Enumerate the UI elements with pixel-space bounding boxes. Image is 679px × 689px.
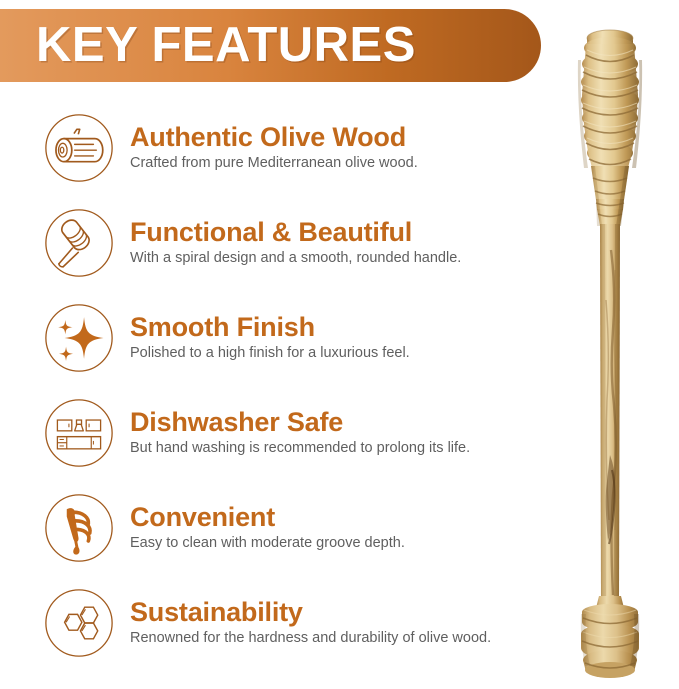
product-image	[540, 0, 679, 689]
olive-wood-honey-dipper-illustration	[540, 0, 679, 689]
feature-text: Dishwasher Safe But hand washing is reco…	[130, 408, 470, 457]
sparkle-icon	[43, 302, 115, 374]
page-title: KEY FEATURES	[36, 21, 416, 70]
feature-text: Authentic Olive Wood Crafted from pure M…	[130, 123, 418, 172]
feature-title: Convenient	[130, 503, 405, 532]
feature-subtitle: With a spiral design and a smooth, round…	[130, 250, 461, 267]
honeycomb-icon	[43, 587, 115, 659]
honey-dipper-outline-icon	[43, 207, 115, 279]
feature-subtitle: But hand washing is recommended to prolo…	[130, 440, 470, 457]
dipper-head	[578, 30, 642, 168]
honey-dripping-icon	[43, 492, 115, 564]
feature-subtitle: Renowned for the hardness and durability…	[130, 630, 491, 647]
feature-subtitle: Crafted from pure Mediterranean olive wo…	[130, 155, 418, 172]
feature-title: Dishwasher Safe	[130, 408, 470, 437]
feature-icon-wrap	[40, 112, 118, 184]
dipper-neck	[591, 166, 629, 226]
infographic-page: KEY FEATURES	[0, 0, 679, 689]
feature-icon-wrap	[40, 587, 118, 659]
feature-title: Functional & Beautiful	[130, 218, 461, 247]
dipper-handle	[600, 224, 620, 602]
feature-text: Smooth Finish Polished to a high finish …	[130, 313, 410, 362]
feature-text: Functional & Beautiful With a spiral des…	[130, 218, 461, 267]
feature-icon-wrap	[40, 207, 118, 279]
feature-title: Smooth Finish	[130, 313, 410, 342]
feature-row: Dishwasher Safe But hand washing is reco…	[0, 385, 545, 480]
feature-title: Authentic Olive Wood	[130, 123, 418, 152]
feature-icon-wrap	[40, 492, 118, 564]
feature-text: Convenient Easy to clean with moderate g…	[130, 503, 405, 552]
feature-row: Smooth Finish Polished to a high finish …	[0, 290, 545, 385]
kitchen-cabinets-icon	[43, 397, 115, 469]
feature-row: Functional & Beautiful With a spiral des…	[0, 195, 545, 290]
feature-row: Authentic Olive Wood Crafted from pure M…	[0, 100, 545, 195]
feature-subtitle: Easy to clean with moderate groove depth…	[130, 535, 405, 552]
key-features-banner: KEY FEATURES	[0, 9, 541, 82]
log-icon	[43, 112, 115, 184]
feature-list: Authentic Olive Wood Crafted from pure M…	[0, 100, 545, 670]
feature-title: Sustainability	[130, 598, 491, 627]
feature-text: Sustainability Renowned for the hardness…	[130, 598, 491, 647]
feature-subtitle: Polished to a high finish for a luxuriou…	[130, 345, 410, 362]
feature-icon-wrap	[40, 302, 118, 374]
handle-base-knob	[581, 596, 639, 678]
feature-icon-wrap	[40, 397, 118, 469]
feature-row: Sustainability Renowned for the hardness…	[0, 575, 545, 670]
feature-row: Convenient Easy to clean with moderate g…	[0, 480, 545, 575]
